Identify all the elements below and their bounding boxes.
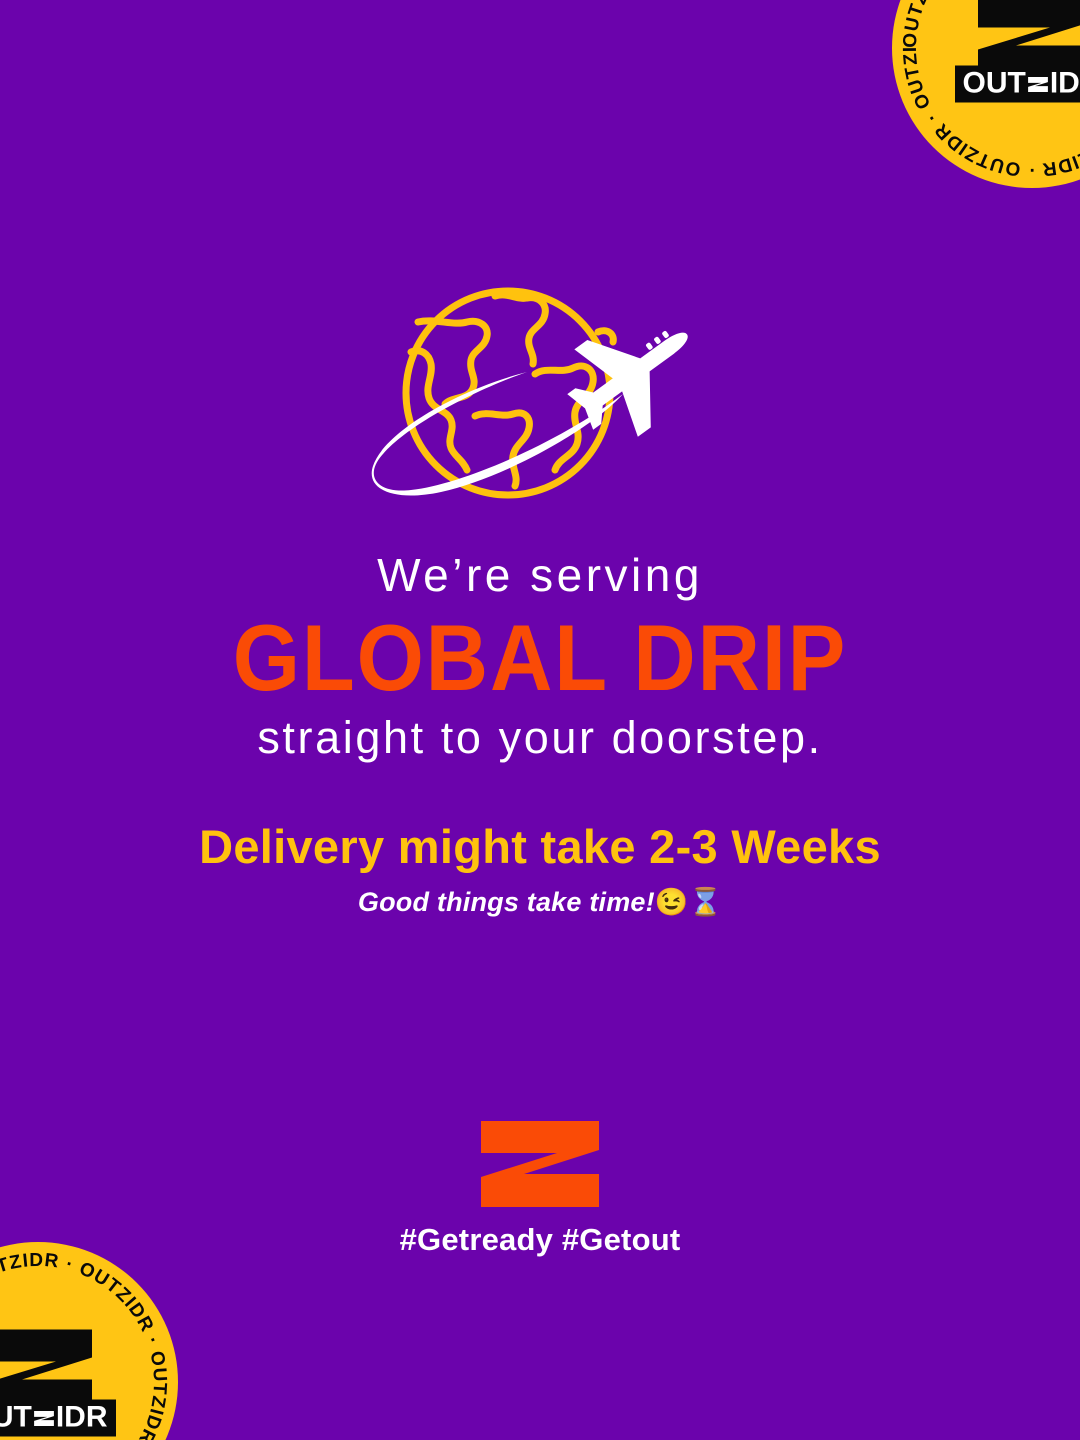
subhead-text: straight to your doorstep. [0,711,1080,765]
delivery-reassurance: Good things take time!😉⌛ [0,886,1080,918]
outzidr-badge-bottom-left: OUTZIDR · OUTZIDR · OUTZIDR · OUTZIDR · … [0,1242,178,1440]
wordmark-prefix-bl: OUT [0,1401,32,1434]
z-mark-inline-icon [1027,74,1049,96]
headline-block: We’re serving GLOBAL DRIP straight to yo… [0,548,1080,765]
outzidr-badge-top-right: OUTZIDR · OUTZIDR · OUTZIDR · OUTZIDR · … [892,0,1080,188]
hashtags-text: #Getready #Getout [0,1222,1080,1258]
badge-core-bl: OUTIDR [0,1328,124,1437]
outzidr-z-logo [479,1120,601,1208]
globe-airplane-icon [355,278,715,508]
poster-canvas: OUTZIDR · OUTZIDR · OUTZIDR · OUTZIDR · … [0,0,1080,1440]
eyebrow-text: We’re serving [0,548,1080,603]
wordmark-prefix-tr: OUT [963,67,1026,100]
page-title: GLOBAL DRIP [43,611,1037,705]
winking-face-emoji: 😉 [655,887,689,917]
delivery-time-text: Delivery might take 2-3 Weeks [0,820,1080,874]
badge-core-tr: OUTIDR [946,0,1080,103]
badge-wordmark-bl: OUTIDR [0,1400,116,1437]
footer-brand-block: #Getready #Getout [0,1120,1080,1258]
hourglass-emoji: ⌛ [688,887,722,917]
wordmark-suffix-bl: IDR [56,1401,108,1434]
delivery-notice-block: Delivery might take 2-3 Weeks Good thing… [0,820,1080,918]
badge-wordmark-tr: OUTIDR [955,66,1080,103]
wordmark-suffix-tr: IDR [1050,67,1080,100]
z-mark-inline-icon [33,1408,55,1430]
reassurance-label: Good things take time! [358,887,655,917]
